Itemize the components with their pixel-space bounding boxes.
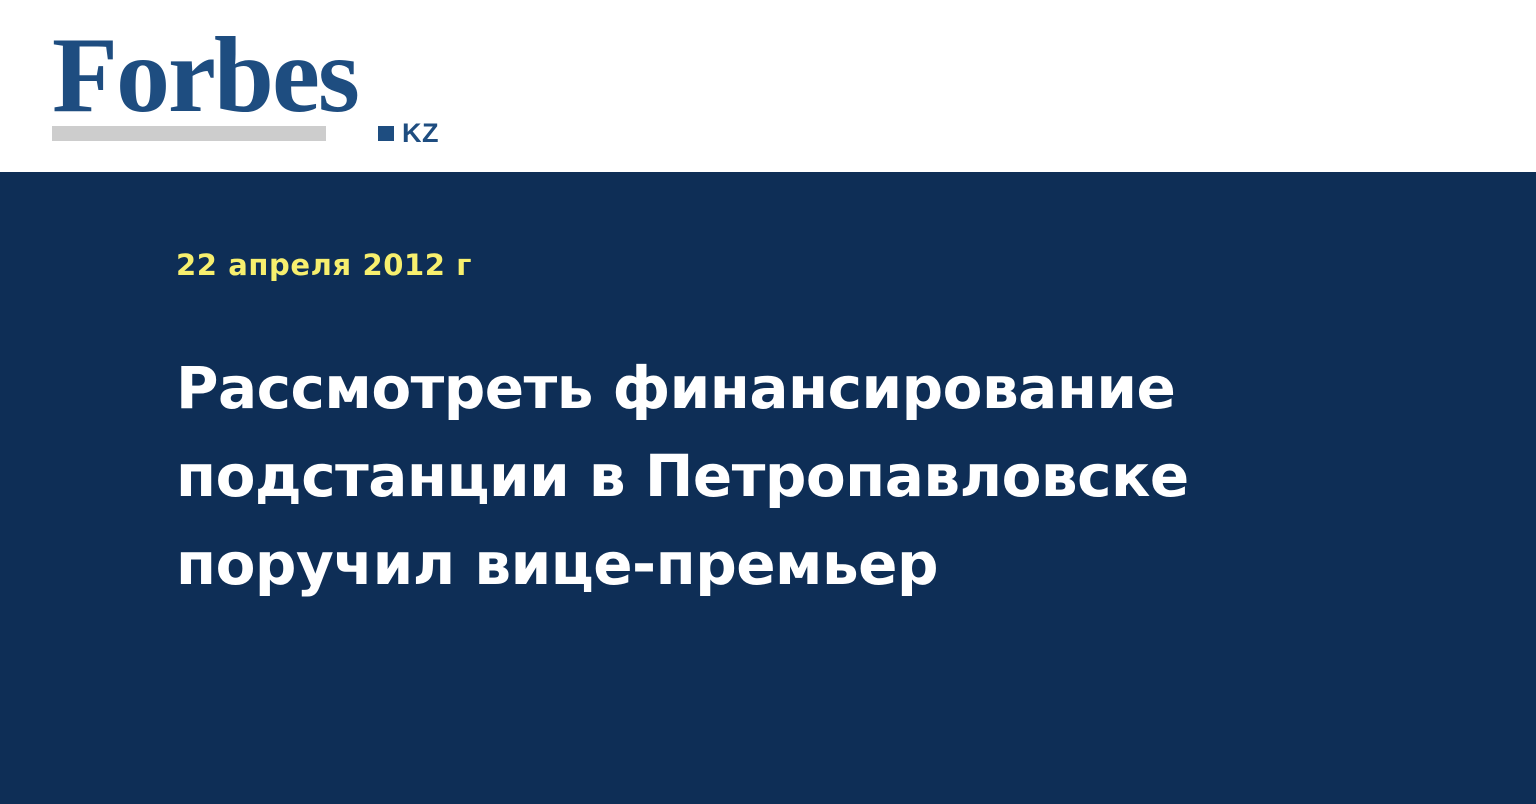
logo-wordmark: Forbes xyxy=(52,16,358,136)
article-date: 22 апреля 2012 г xyxy=(176,248,1286,282)
square-bullet-icon xyxy=(378,126,394,141)
logo-locale-suffix: KZ xyxy=(402,120,439,147)
article-hero-page: Forbes KZ 22 апреля 2012 г Рассмотреть ф… xyxy=(0,0,1536,804)
article-hero-content: 22 апреля 2012 г Рассмотреть финансирова… xyxy=(176,248,1286,608)
site-header: Forbes KZ xyxy=(0,0,1536,172)
page-title: Рассмотреть финансирование подстанции в … xyxy=(176,344,1246,608)
horizontal-rule-icon xyxy=(52,126,326,141)
forbes-kz-logo[interactable]: Forbes KZ xyxy=(52,22,417,144)
article-hero: 22 апреля 2012 г Рассмотреть финансирова… xyxy=(0,172,1536,804)
